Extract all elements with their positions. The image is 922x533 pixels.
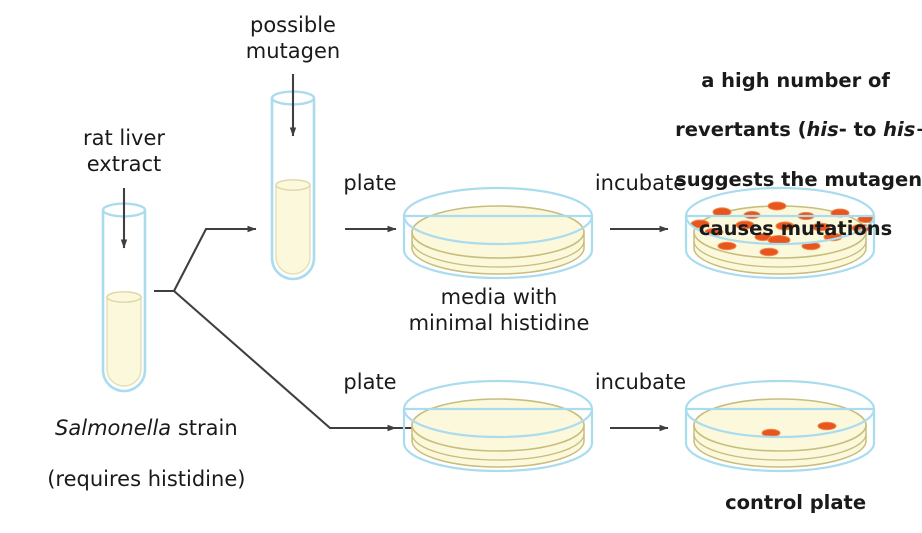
- conclusion-line-2b: - to: [839, 118, 883, 141]
- caption-control-plate: control plate (natural revertants): [650, 466, 914, 533]
- label-incubate-bottom: incubate: [583, 370, 698, 396]
- conclusion-line-2c: +): [915, 118, 922, 141]
- conclusion-line-1: a high number of: [701, 69, 890, 92]
- control-plate-line-1: control plate: [725, 491, 866, 514]
- requires-histidine: (requires histidine): [47, 467, 245, 491]
- strain-word: strain: [171, 416, 238, 440]
- petri-dish-test-preincubation: [404, 188, 592, 278]
- conclusion-line-4: causes mutations: [699, 217, 892, 240]
- petri-dish-control-preincubation: [404, 381, 592, 471]
- petri-dish-control-incubated: [686, 381, 874, 471]
- conclusion-line-2a: revertants (: [675, 118, 806, 141]
- his-plus-italic: his: [883, 118, 915, 141]
- salmonella-italic: Salmonella: [55, 416, 171, 440]
- label-possible-mutagen: possible mutagen: [213, 13, 373, 64]
- conclusion-line-3: suggests the mutagen: [675, 168, 922, 191]
- diagram-canvas: rat liver extract possible mutagen Salmo…: [0, 0, 922, 533]
- caption-media-minimal-histidine: media with minimal histidine: [388, 285, 610, 336]
- caption-conclusion: a high number of revertants (his- to his…: [648, 44, 916, 267]
- bacterial-colony: [818, 422, 836, 430]
- label-plate-top: plate: [320, 171, 420, 197]
- label-rat-liver-extract: rat liver extract: [44, 126, 204, 177]
- his-minus-italic: his: [807, 118, 839, 141]
- label-plate-bottom: plate: [320, 370, 420, 396]
- label-salmonella-strain: Salmonella strain (requires histidine): [18, 390, 248, 518]
